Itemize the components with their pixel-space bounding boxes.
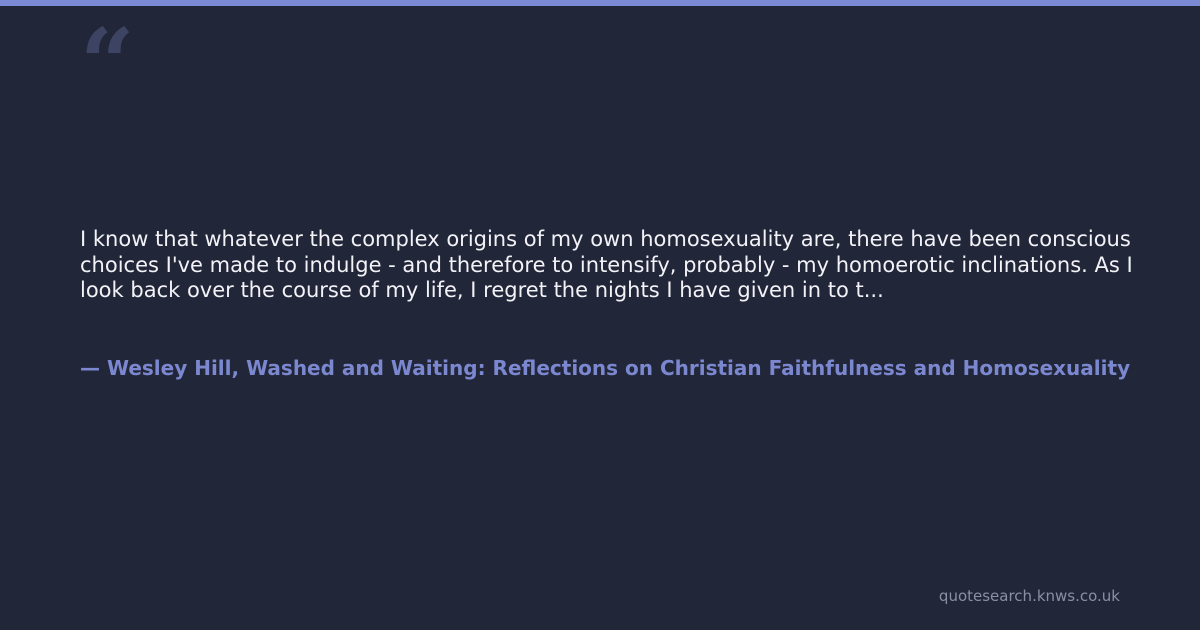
attribution-label: Wesley Hill, Washed and Waiting: Reflect… [107,356,1130,380]
source-url: quotesearch.knws.co.uk [939,587,1120,606]
quote-body-text: I know that whatever the complex origins… [80,227,1140,304]
attribution-dash: — [80,356,100,380]
quote-attribution: — Wesley Hill, Washed and Waiting: Refle… [80,355,1200,381]
quote-card: “ I know that whatever the complex origi… [0,0,1200,630]
open-quote-icon: “ [80,16,133,111]
top-accent-bar [0,0,1200,6]
